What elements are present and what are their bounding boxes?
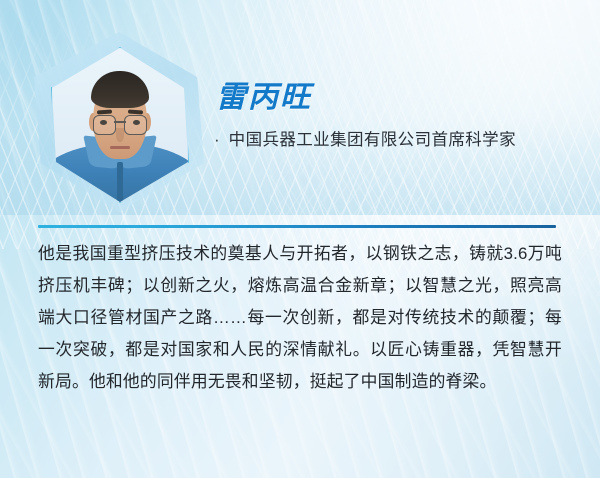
person-title: 中国兵器工业集团有限公司首席科学家 <box>229 126 516 154</box>
person-title-row: · 中国兵器工业集团有限公司首席科学家 <box>214 126 558 154</box>
avatar <box>40 38 200 210</box>
biography-paragraph: 他是我国重型挤压技术的奠基人与开拓者，以钢铁之志，铸就3.6万吨挤压机丰碑；以创… <box>38 238 562 398</box>
person-name: 雷丙旺 <box>216 72 312 116</box>
profile-card: 雷丙旺 · 中国兵器工业集团有限公司首席科学家 他是我国重型挤压技术的奠基人与开… <box>0 0 600 478</box>
bullet-icon: · <box>214 126 220 153</box>
divider <box>38 225 556 228</box>
